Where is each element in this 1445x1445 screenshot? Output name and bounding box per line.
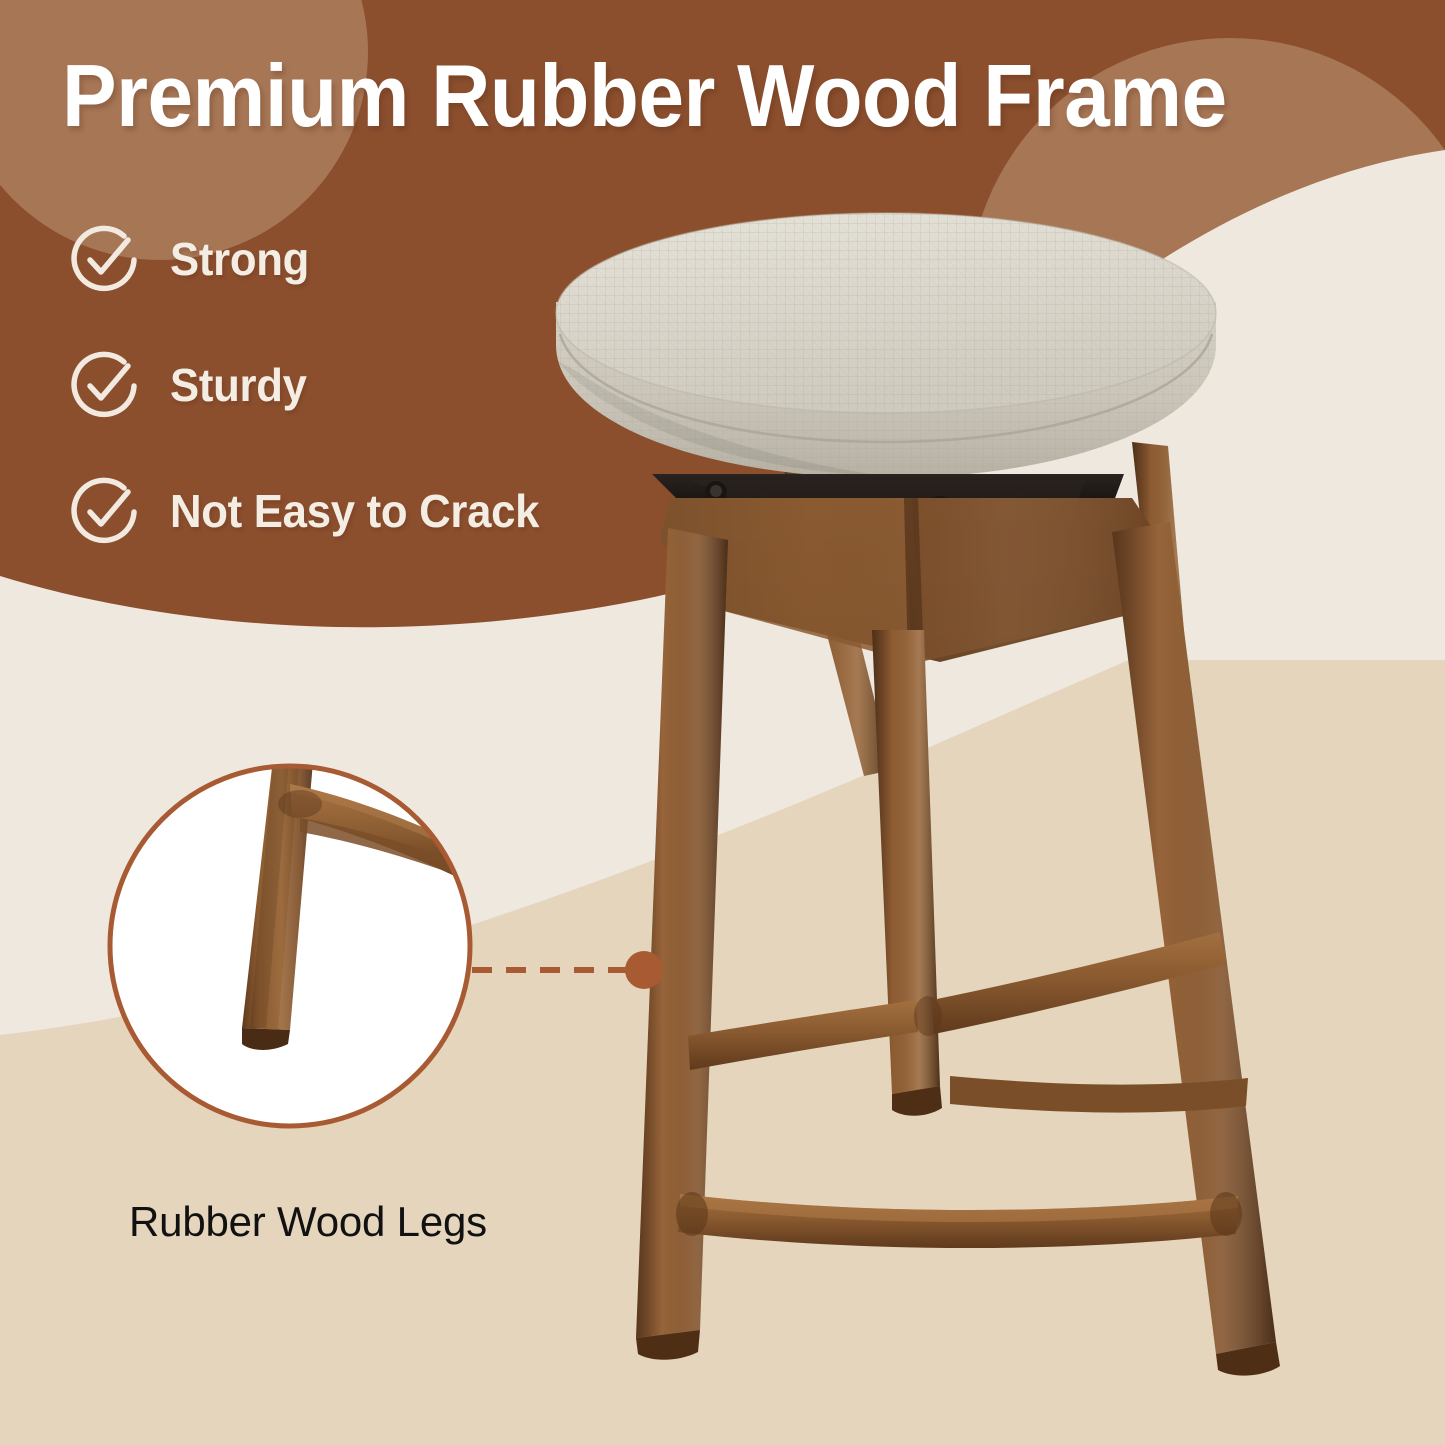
feature-label: Sturdy bbox=[170, 358, 307, 412]
stool-leg-back-center bbox=[872, 630, 942, 1116]
product-image-stool bbox=[520, 210, 1420, 1400]
check-circle-icon bbox=[68, 474, 142, 548]
feature-label: Strong bbox=[170, 232, 309, 286]
feature-label: Not Easy to Crack bbox=[170, 484, 539, 538]
detail-callout-magnifier bbox=[104, 760, 476, 1132]
callout-caption: Rubber Wood Legs bbox=[108, 1198, 508, 1246]
stool-stretcher-front bbox=[678, 1194, 1238, 1248]
product-infographic: Premium Rubber Wood Frame Strong Sturdy bbox=[0, 0, 1445, 1445]
feature-item-sturdy: Sturdy bbox=[68, 348, 559, 422]
feature-list: Strong Sturdy Not Easy to Crack bbox=[68, 222, 559, 548]
callout-connector bbox=[470, 940, 680, 1000]
feature-item-strong: Strong bbox=[68, 222, 559, 296]
check-circle-icon bbox=[68, 222, 142, 296]
stool-stretcher-upper-left bbox=[688, 1000, 918, 1070]
page-title: Premium Rubber Wood Frame bbox=[62, 52, 1308, 140]
check-circle-icon bbox=[68, 348, 142, 422]
connector-dot-icon bbox=[625, 951, 663, 989]
feature-item-not-easy-to-crack: Not Easy to Crack bbox=[68, 474, 559, 548]
stool-seat-cushion bbox=[556, 213, 1216, 478]
